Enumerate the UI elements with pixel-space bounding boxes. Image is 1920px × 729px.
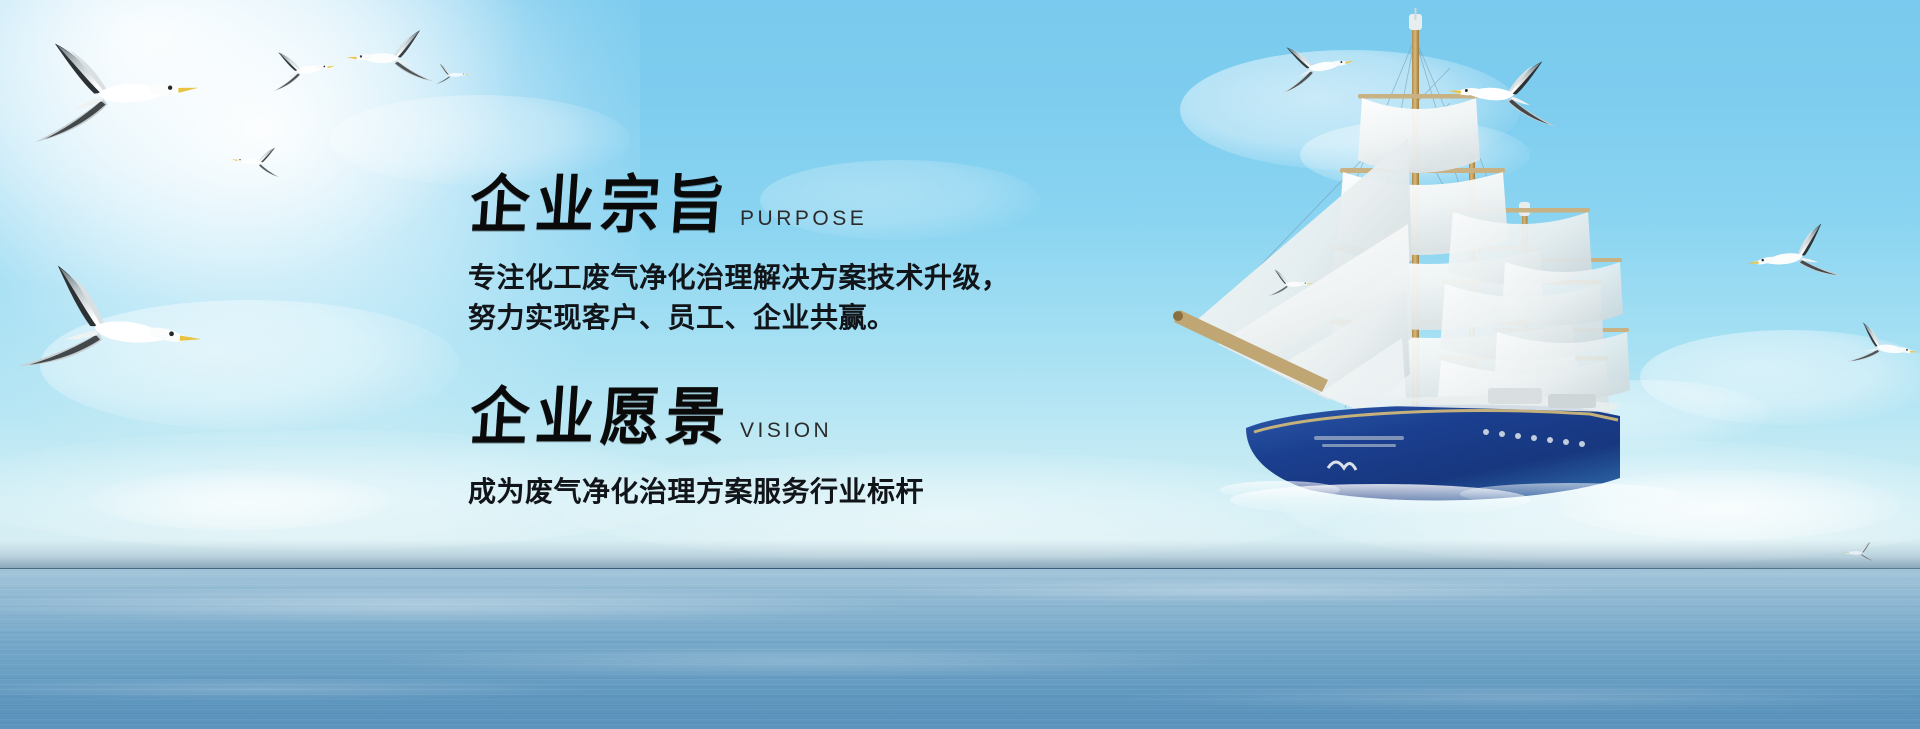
purpose-headline-row: 企业宗旨 PURPOSE — [468, 178, 1010, 236]
hero-banner: 企业宗旨 PURPOSE 专注化工废气净化治理解决方案技术升级， 努力实现客户、… — [0, 0, 1920, 729]
purpose-block: 企业宗旨 PURPOSE 专注化工废气净化治理解决方案技术升级， 努力实现客户、… — [468, 178, 1010, 338]
purpose-line-2: 努力实现客户、员工、企业共赢。 — [468, 298, 1010, 338]
vision-block: 企业愿景 VISION 成为废气净化治理方案服务行业标杆 — [468, 390, 924, 512]
vision-line-1: 成为废气净化治理方案服务行业标杆 — [468, 472, 924, 512]
vision-headline-row: 企业愿景 VISION — [468, 390, 924, 448]
purpose-line-1: 专注化工废气净化治理解决方案技术升级， — [468, 258, 1010, 298]
vision-headline-en: VISION — [740, 420, 832, 448]
purpose-headline-en: PURPOSE — [740, 208, 867, 236]
text-overlay: 企业宗旨 PURPOSE 专注化工废气净化治理解决方案技术升级， 努力实现客户、… — [0, 0, 1920, 729]
vision-headline-cn: 企业愿景 — [468, 385, 734, 448]
purpose-headline-cn: 企业宗旨 — [468, 173, 734, 236]
